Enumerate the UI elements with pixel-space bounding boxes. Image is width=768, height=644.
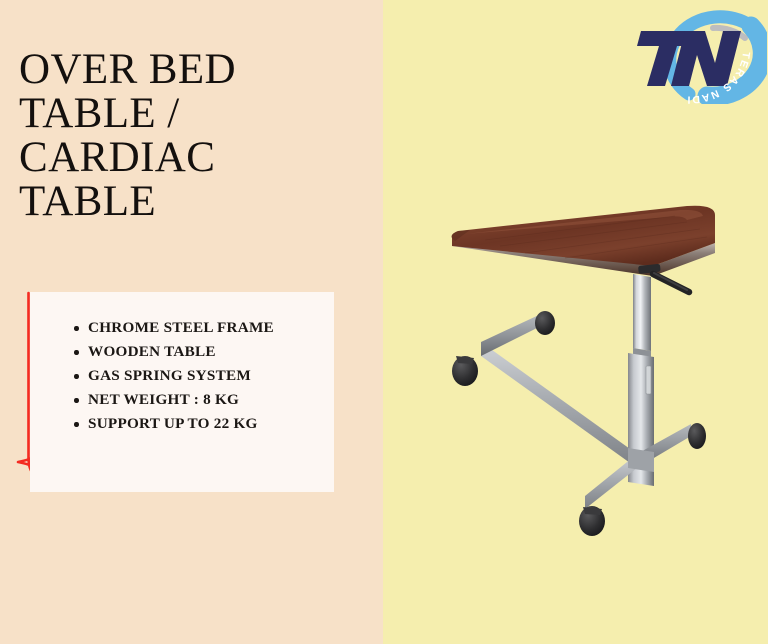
tabletop xyxy=(452,206,715,276)
company-logo[interactable]: TERAS NADI xyxy=(625,8,767,104)
product-image-over-bed-table xyxy=(425,196,740,544)
list-item: SUPPORT UP TO 22 KG xyxy=(73,412,335,436)
feature-list: CHROME STEEL FRAME WOODEN TABLE GAS SPRI… xyxy=(73,316,335,436)
list-item: CHROME STEEL FRAME xyxy=(73,316,335,340)
logo-monogram xyxy=(637,31,741,86)
product-banner: OVER BED TABLE / CARDIAC TABLE CHROME ST… xyxy=(0,0,768,644)
list-item: WOODEN TABLE xyxy=(73,340,335,364)
base-frame xyxy=(481,314,691,509)
list-item: NET WEIGHT : 8 KG xyxy=(73,388,335,412)
page-title: OVER BED TABLE / CARDIAC TABLE xyxy=(19,48,349,223)
list-item: GAS SPRING SYSTEM xyxy=(73,364,335,388)
caster-wheel xyxy=(688,423,706,449)
upper-column xyxy=(633,274,651,357)
caster-wheel xyxy=(452,356,478,386)
caster-wheel xyxy=(535,311,555,335)
caster-wheel xyxy=(579,506,605,536)
